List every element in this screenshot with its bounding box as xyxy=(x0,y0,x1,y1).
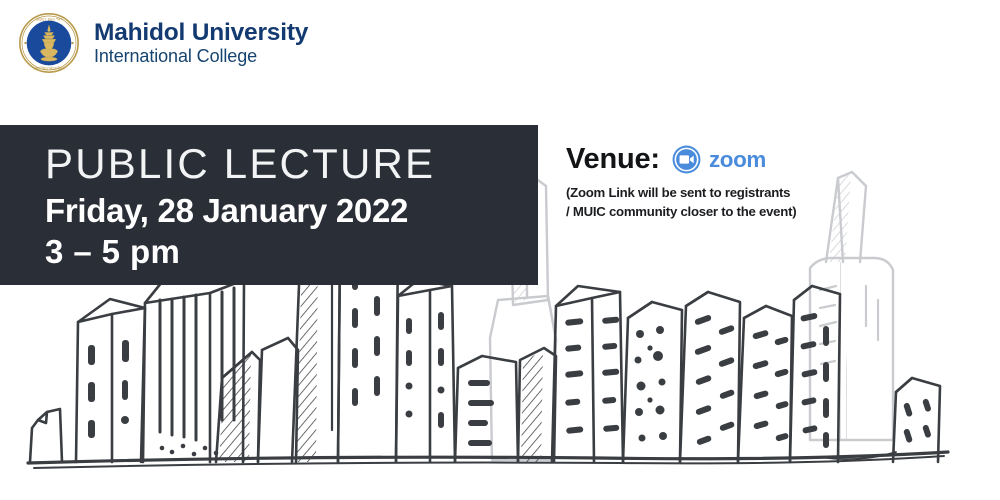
venue-row: Venue: zoom xyxy=(566,143,805,176)
venue-note-line1: (Zoom Link will be sent to registrants xyxy=(566,184,805,203)
zoom-video-camera-icon xyxy=(671,144,702,175)
venue-note-line2: / MUIC community closer to the event) xyxy=(566,203,805,222)
zoom-logo: zoom xyxy=(671,144,805,175)
zoom-wordmark: zoom xyxy=(709,148,805,172)
svg-text:zoom: zoom xyxy=(709,148,766,172)
event-banner: PUBLIC LECTURE Friday, 28 January 2022 3… xyxy=(0,125,538,285)
venue-note: (Zoom Link will be sent to registrants /… xyxy=(566,184,805,221)
event-banner-content: PUBLIC LECTURE Friday, 28 January 2022 3… xyxy=(45,143,435,272)
svg-text:มหาวิทยาลัยมหิดล: มหาวิทยาลัยมหิดล xyxy=(33,66,65,71)
event-time: 3 – 5 pm xyxy=(45,233,435,272)
page-title: PUBLIC LECTURE xyxy=(45,143,435,185)
poster-canvas: ปญฺญา ธมฺม ฯลฯ มหาวิทยาลัยมหิดล Mahidol … xyxy=(0,0,1000,500)
mahidol-seal-icon: ปญฺญา ธมฺม ฯลฯ มหาวิทยาลัยมหิดล xyxy=(18,12,80,74)
svg-text:ปญฺญา ธมฺม ฯลฯ: ปญฺญา ธมฺม ฯลฯ xyxy=(36,17,63,22)
brand-name: Mahidol University International College xyxy=(94,20,308,65)
brand-logo: ปญฺญา ธมฺม ฯลฯ มหาวิทยาลัยมหิดล Mahidol … xyxy=(18,12,308,74)
brand-name-primary: Mahidol University xyxy=(94,20,308,45)
brand-name-secondary: International College xyxy=(94,47,308,66)
event-date: Friday, 28 January 2022 xyxy=(45,192,435,231)
venue-label: Venue: xyxy=(566,143,660,176)
venue-block: Venue: zoom (Zoom Link will be sent to r… xyxy=(566,143,805,221)
